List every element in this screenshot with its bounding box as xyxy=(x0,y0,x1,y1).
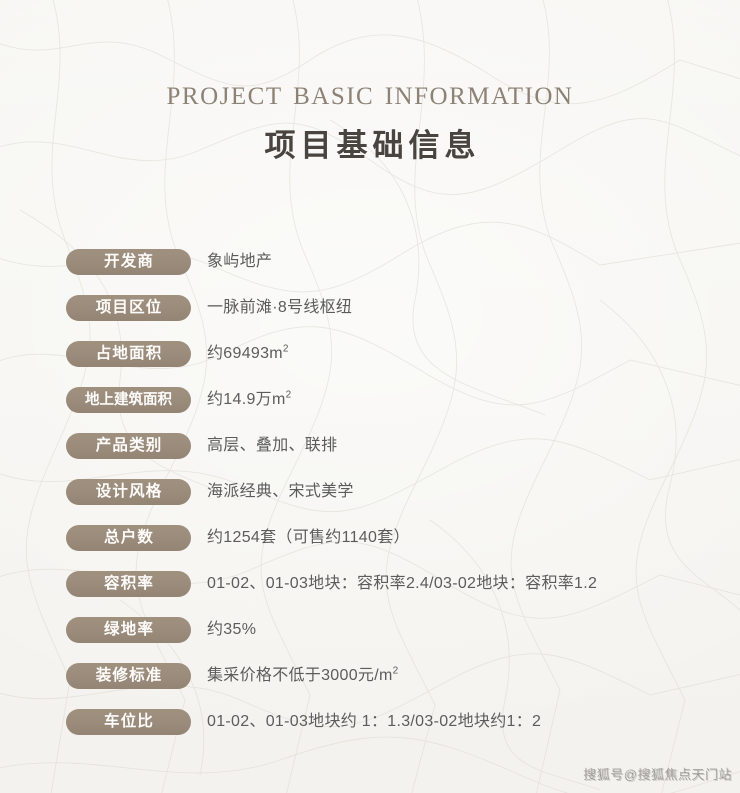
floor-area-text: 约14.9万m xyxy=(207,391,286,408)
row-value-decoration-standard: 集采价格不低于3000元/m2 xyxy=(207,663,740,689)
page-title-chinese: 项目基础信息 xyxy=(0,126,740,166)
row-value-location: 一脉前滩·8号线枢纽 xyxy=(207,295,740,321)
table-row: 容积率 01-02、01-03地块：容积率2.4/03-02地块：容积率1.2 xyxy=(0,571,740,597)
row-value-product-type: 高层、叠加、联排 xyxy=(207,433,740,459)
row-label-total-units: 总户数 xyxy=(66,525,191,551)
row-value-parking-ratio: 01-02、01-03地块约 1：1.3/03-02地块约1：2 xyxy=(207,709,740,735)
decoration-standard-text: 集采价格不低于3000元/m xyxy=(207,667,393,684)
row-value-above-ground-floor-area: 约14.9万m2 xyxy=(207,387,740,413)
row-label-land-area: 占地面积 xyxy=(66,341,191,367)
row-value-floor-area-ratio: 01-02、01-03地块：容积率2.4/03-02地块：容积率1.2 xyxy=(207,571,740,597)
watermark: 搜狐号@搜狐焦点天门站 搜狐号@搜狐焦点天门站 xyxy=(583,764,732,783)
table-row: 地上建筑面积 约14.9万m2 xyxy=(0,387,740,413)
row-value-land-area: 约69493m2 xyxy=(207,341,740,367)
table-row: 绿地率 约35% xyxy=(0,617,740,643)
decoration-unit-exponent: 2 xyxy=(393,666,399,677)
table-row: 项目区位 一脉前滩·8号线枢纽 xyxy=(0,295,740,321)
land-area-text: 约69493m xyxy=(207,345,283,362)
floor-area-unit-exponent: 2 xyxy=(286,390,292,401)
table-row: 产品类别 高层、叠加、联排 xyxy=(0,433,740,459)
row-label-green-ratio: 绿地率 xyxy=(66,617,191,643)
row-value-total-units: 约1254套（可售约1140套） xyxy=(207,525,740,551)
row-label-floor-area-ratio: 容积率 xyxy=(66,571,191,597)
row-label-decoration-standard: 装修标准 xyxy=(66,663,191,689)
row-label-design-style: 设计风格 xyxy=(66,479,191,505)
row-value-developer: 象屿地产 xyxy=(207,249,740,275)
table-row: 设计风格 海派经典、宋式美学 xyxy=(0,479,740,505)
row-label-parking-ratio: 车位比 xyxy=(66,709,191,735)
table-row: 总户数 约1254套（可售约1140套） xyxy=(0,525,740,551)
table-row: 车位比 01-02、01-03地块约 1：1.3/03-02地块约1：2 xyxy=(0,709,740,735)
row-value-design-style: 海派经典、宋式美学 xyxy=(207,479,740,505)
watermark-text: 搜狐号@搜狐焦点天门站 xyxy=(583,767,732,782)
row-label-above-ground-floor-area: 地上建筑面积 xyxy=(66,387,191,413)
row-value-green-ratio: 约35% xyxy=(207,617,740,643)
table-row: 开发商 象屿地产 xyxy=(0,249,740,275)
land-area-unit-exponent: 2 xyxy=(283,344,289,355)
table-row: 装修标准 集采价格不低于3000元/m2 xyxy=(0,663,740,689)
project-info-page: Project Basic Information 项目基础信息 开发商 象屿地… xyxy=(0,0,740,793)
row-label-developer: 开发商 xyxy=(66,249,191,275)
page-heading: Project Basic Information 项目基础信息 xyxy=(0,0,740,166)
row-label-product-type: 产品类别 xyxy=(66,433,191,459)
table-row: 占地面积 约69493m2 xyxy=(0,341,740,367)
page-title-english: Project Basic Information xyxy=(0,70,740,114)
row-label-location: 项目区位 xyxy=(66,295,191,321)
project-info-table: 开发商 象屿地产 项目区位 一脉前滩·8号线枢纽 占地面积 约69493m2 地… xyxy=(0,249,740,735)
